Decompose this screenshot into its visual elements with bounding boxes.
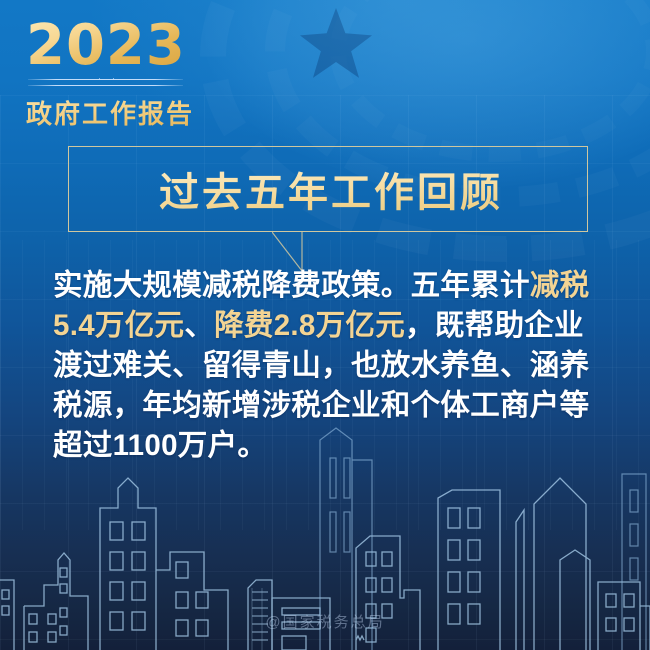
body-segment: ，既帮助企业 <box>405 309 584 342</box>
section-title-box: 过去五年工作回顾 <box>68 146 588 232</box>
report-subtitle: 政府工作报告 <box>26 94 194 131</box>
body-segment-highlight: 减税 <box>530 269 590 302</box>
five-point-star-icon <box>300 8 372 80</box>
body-segment-highlight: 降费2.8万亿元 <box>214 309 405 342</box>
body-segment-highlight: 5.4万亿元 <box>53 309 184 342</box>
body-segment: 实施大规模减税降费政策。五年累计 <box>53 269 530 302</box>
chevron-down-icon <box>99 78 114 89</box>
watermark-label: @国家税务总局 <box>0 611 650 632</box>
header: 2023 政府工作报告 <box>26 18 194 131</box>
section-title: 过去五年工作回顾 <box>69 160 587 218</box>
year-label: 2023 <box>26 18 194 74</box>
body-line: 渡过难关、留得青山，也放水养鱼、涵养 <box>53 346 605 386</box>
poster-canvas: 2023 政府工作报告 过去五年工作回顾 实施大规模减税降费政策。五年累计减税 … <box>0 0 650 650</box>
body-line: 5.4万亿元、降费2.8万亿元，既帮助企业 <box>53 306 605 346</box>
gear-ring-inner-icon <box>330 0 650 162</box>
body-line: 实施大规模减税降费政策。五年累计减税 <box>53 266 605 306</box>
body-segment: 、 <box>184 309 214 342</box>
header-divider <box>28 78 183 90</box>
